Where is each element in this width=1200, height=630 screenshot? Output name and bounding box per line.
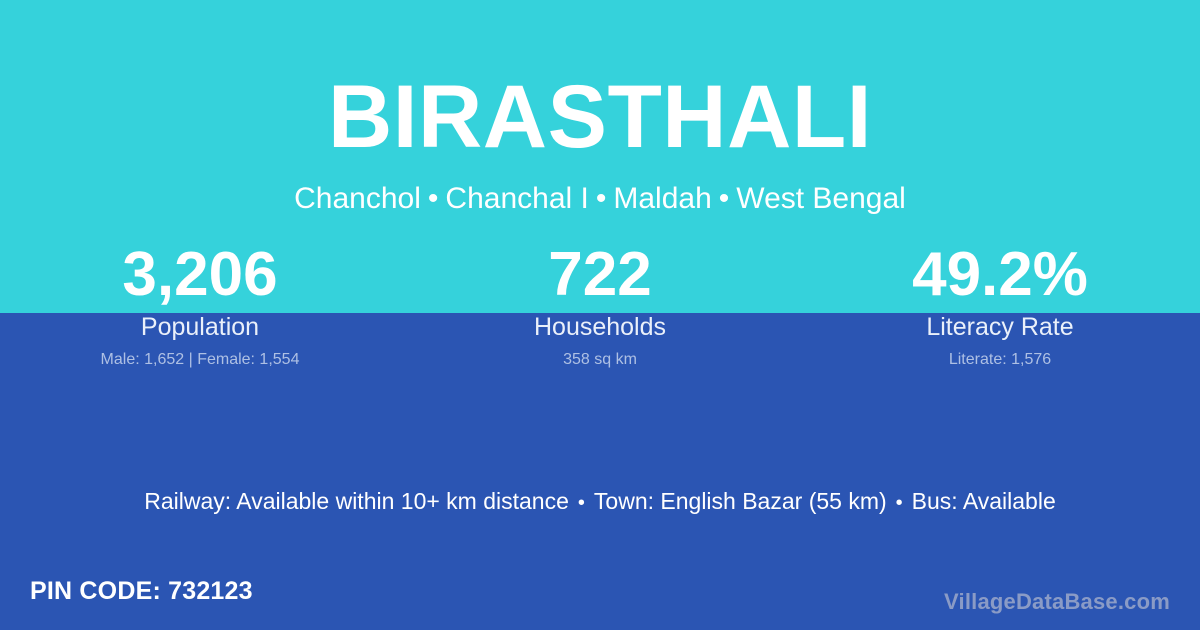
stat-value: 3,206 (0, 240, 400, 310)
village-info-card: BIRASTHALI Chanchol•Chanchal I•Maldah•We… (0, 0, 1200, 630)
site-brand: VillageDataBase.com (944, 589, 1170, 615)
stat-detail: 358 sq km (400, 350, 800, 369)
stat-population: 3,206 Population Male: 1,652 | Female: 1… (0, 240, 400, 369)
breadcrumb-state: West Bengal (736, 182, 906, 215)
infrastructure-separator-1: • (569, 492, 594, 514)
page-title: BIRASTHALI (0, 72, 1200, 161)
breadcrumb-subdistrict: Chanchal I (445, 182, 588, 215)
card-footer: PIN CODE: 732123 VillageDataBase.com (0, 572, 1200, 630)
stat-literacy-rate: 49.2% Literacy Rate Literate: 1,576 (800, 240, 1200, 369)
breadcrumb: Chanchol•Chanchal I•Maldah•West Bengal (0, 181, 1200, 217)
breadcrumb-separator-3: • (712, 182, 737, 215)
infrastructure-separator-2: • (887, 492, 912, 514)
stats-row: 3,206 Population Male: 1,652 | Female: 1… (0, 240, 1200, 369)
infrastructure-town: Town: English Bazar (55 km) (594, 488, 887, 514)
stat-detail: Literate: 1,576 (800, 350, 1200, 369)
infrastructure-bus: Bus: Available (912, 488, 1056, 514)
breadcrumb-block: Chanchol (294, 182, 421, 215)
stat-label: Population (0, 312, 400, 342)
stat-detail: Male: 1,652 | Female: 1,554 (0, 350, 400, 369)
infrastructure-railway: Railway: Available within 10+ km distanc… (144, 488, 569, 514)
stat-value: 49.2% (800, 240, 1200, 310)
infrastructure-summary: Railway: Available within 10+ km distanc… (0, 487, 1200, 517)
stat-households: 722 Households 358 sq km (400, 240, 800, 369)
breadcrumb-separator-2: • (589, 182, 614, 215)
breadcrumb-district: Maldah (613, 182, 711, 215)
breadcrumb-separator-1: • (421, 182, 446, 215)
pin-code: PIN CODE: 732123 (30, 576, 253, 606)
stat-label: Households (400, 312, 800, 342)
stat-label: Literacy Rate (800, 312, 1200, 342)
stat-value: 722 (400, 240, 800, 310)
